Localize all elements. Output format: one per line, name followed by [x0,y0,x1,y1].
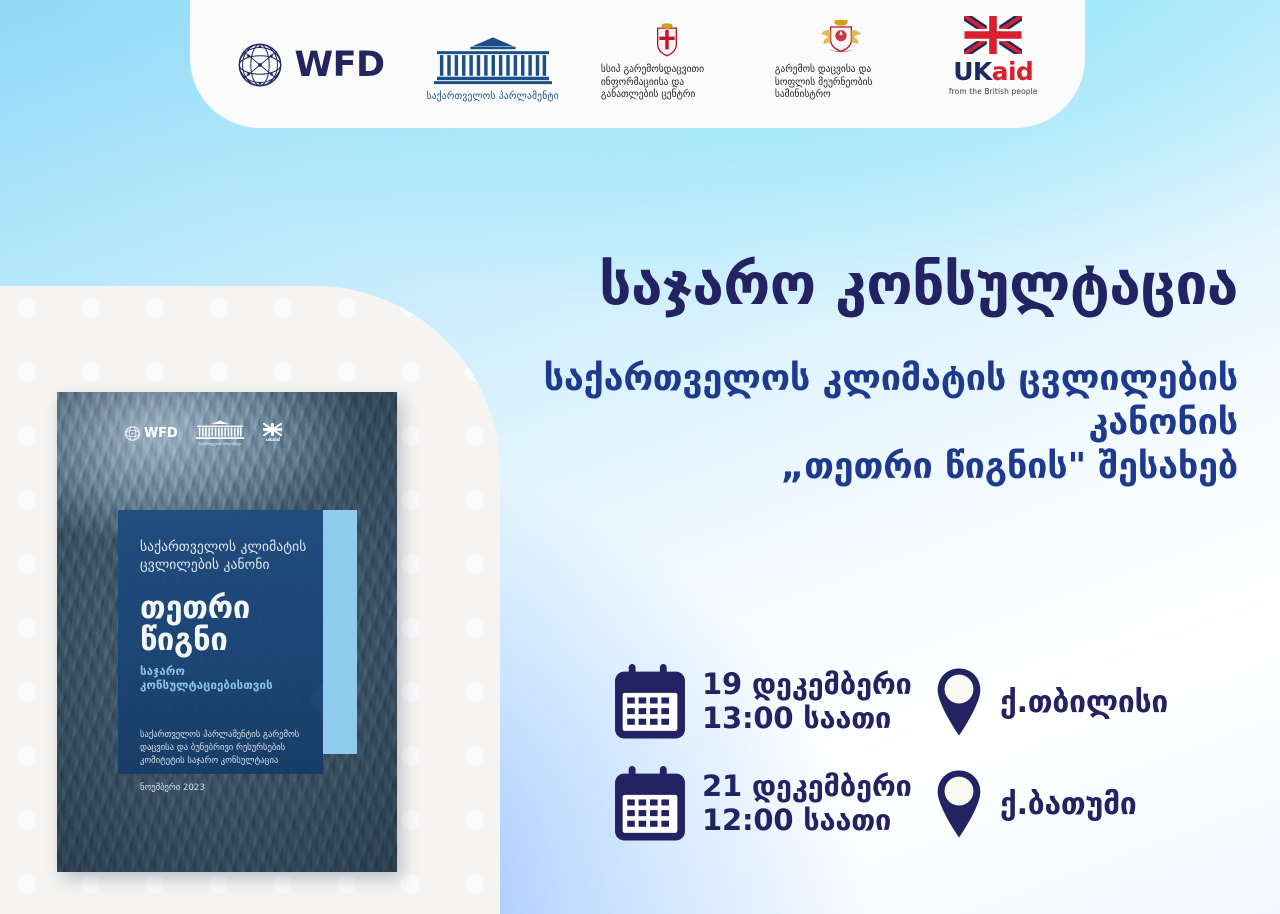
page-title: საჯარო კონსულტაცია [470,255,1238,315]
ministry-logo-caption: გარემოს დაცვისა და სოფლის მეურნეობის სამ… [775,64,907,102]
georgia-crest-icon [654,23,680,57]
union-jack-flag-icon [964,16,1022,54]
book-main-title: თეთრი წიგნი [140,593,307,656]
subtitle-line-1: საქართველოს კლიმატის ცვლილების [470,357,1238,401]
ukaid-uk-text: UK [953,57,991,86]
book-parliament-caption: საქართველოს პარლამენტი [199,442,242,446]
page-subtitle: საქართველოს კლიმატის ცვლილების კანონის „… [470,357,1238,489]
book-parliament-logo: საქართველოს პარლამენტი [195,420,245,446]
event-location: ქ.თბილისი [1000,685,1168,720]
ukaid-aid-text: aid [992,57,1034,86]
book-cover-logos: WFD საქართველო [125,420,282,446]
ministry-environment-agriculture-logo: გარემოს დაცვისა და სოფლის მეურნეობის სამ… [775,17,907,102]
parliament-of-georgia-logo: საქართველოს პარლამენტი [427,36,559,102]
book-kicker-line-1: საჯარო [140,665,307,679]
event-time: 12:00 საათი [702,804,932,838]
calendar-icon [612,662,688,742]
event-row: 19 დეკემბერი 13:00 საათი ქ.თბილისი [612,662,1212,742]
environmental-information-education-centre-logo: სსიპ გარემოსდაცვითი ინფორმაციისა და განა… [601,23,733,102]
book-parliament-building-icon [195,420,245,440]
map-pin-icon [936,769,982,839]
event-datetime: 19 დეკემბერი 13:00 საათი [702,668,932,735]
event-row: 21 დეკემბერი 12:00 საათი ქ.ბათუმი [612,764,1212,844]
parliament-building-icon [434,36,552,86]
poster-canvas: WFD [0,0,1280,914]
calendar-icon [612,764,688,844]
book-ukaid-caption: ukaid [266,438,280,443]
main-content: საჯარო კონსულტაცია საქართველოს კლიმატის … [470,255,1260,489]
book-wfd-logo: WFD [125,426,177,441]
ukaid-logo: UKaid from the British people [949,16,1038,102]
subtitle-line-3: „თეთრი წიგნის" შესახებ [470,445,1238,489]
wfd-globe-icon [237,42,283,88]
book-accent-bar [323,510,357,754]
event-time: 13:00 საათი [702,702,932,736]
eiec-logo-caption: სსიპ გარემოსდაცვითი ინფორმაციისა და განა… [601,64,733,102]
georgia-state-coat-of-arms-icon [815,17,867,57]
book-wfd-wordmark: WFD [144,426,177,441]
book-pretitle: საქართველოს კლიმატის ცვლილების კანონი [140,538,307,574]
book-title-line-2: წიგნი [140,625,307,657]
map-pin-icon [936,667,982,737]
event-location: ქ.ბათუმი [1000,787,1137,822]
subtitle-line-2: კანონის [470,401,1238,445]
book-union-jack-icon [263,423,282,436]
book-cover-image: WFD საქართველო [57,392,397,872]
ukaid-wordmark: UKaid [953,59,1033,84]
event-datetime: 21 დეკემბერი 12:00 საათი [702,770,932,837]
wfd-wordmark: WFD [294,48,384,83]
book-wfd-globe-icon [125,426,140,441]
book-publication-date: ნოემბერი 2023 [140,783,307,793]
event-date: 21 დეკემბერი [702,770,932,804]
book-title-line-1: თეთრი [140,593,307,625]
ukaid-tagline: from the British people [949,87,1038,96]
wfd-logo: WFD [237,42,384,102]
parliament-logo-caption: საქართველოს პარლამენტი [427,91,559,102]
book-body-text: საქართველოს პარლამენტის გარემოს დაცვისა … [140,729,307,768]
book-title-plate: საქართველოს კლიმატის ცვლილების კანონი თე… [118,510,323,774]
event-list: 19 დეკემბერი 13:00 საათი ქ.თბილისი [612,662,1212,866]
book-ukaid-logo: ukaid [263,423,282,443]
sponsor-logo-banner: WFD [190,0,1085,128]
book-kicker-line-2: კონსულტაციებისთვის [140,679,307,693]
book-kicker: საჯარო კონსულტაციებისთვის [140,665,307,693]
event-date: 19 დეკემბერი [702,668,932,702]
